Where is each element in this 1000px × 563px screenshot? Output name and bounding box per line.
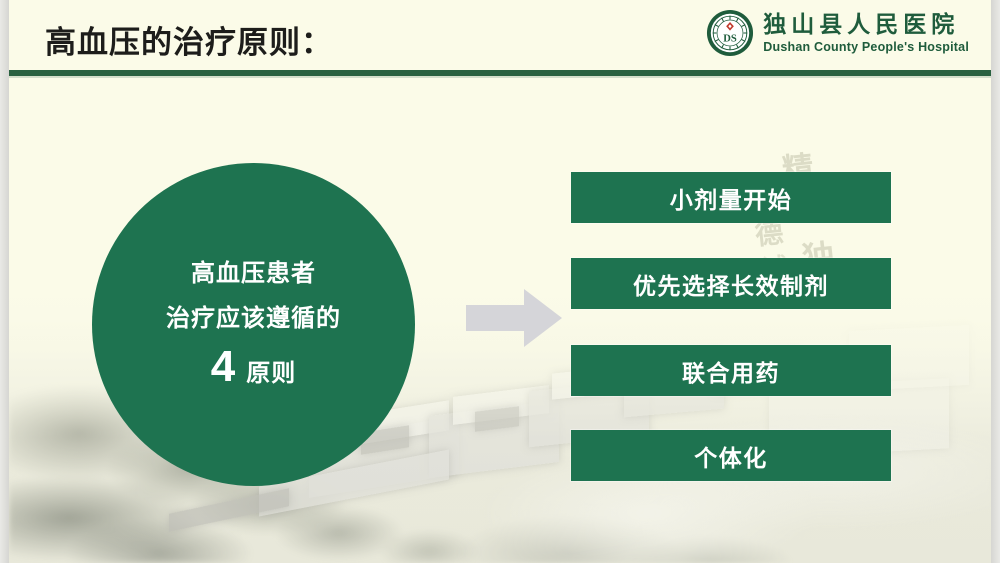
hospital-name-cn: 独山县人民医院 <box>763 13 959 36</box>
principle-bar-label: 联合用药 <box>682 354 780 388</box>
hospital-name-block: 独山县人民医院 Dushan County People's Hospital <box>763 13 969 54</box>
principle-bar-4[interactable]: 个体化 <box>571 430 891 481</box>
slide-header: 高血压的治疗原则： <box>9 0 991 72</box>
principle-count-unit: 原则 <box>246 358 296 390</box>
principle-bar-2[interactable]: 优先选择长效制剂 <box>571 258 891 309</box>
slide-canvas: 精 德 独 诚 高血压的治疗原则： <box>9 0 991 563</box>
slide-frame-right-edge <box>991 0 1000 563</box>
right-arrow-icon <box>466 287 564 349</box>
principle-count-number: 4 <box>211 345 235 389</box>
circle-line-2: 治疗应该遵循的 <box>166 303 341 335</box>
header-divider-rule-shadow <box>9 76 991 78</box>
hospital-emblem-icon: DS <box>706 9 754 57</box>
principle-bar-3[interactable]: 联合用药 <box>571 345 891 396</box>
hospital-logo: DS 独山县人民医院 Dushan County People's Hospit… <box>706 9 969 57</box>
hospital-name-en: Dushan County People's Hospital <box>763 41 969 54</box>
circle-line-3: 4 原则 <box>211 345 296 390</box>
page-title: 高血压的治疗原则： <box>45 17 333 62</box>
principle-bar-label: 个体化 <box>694 439 768 473</box>
principle-bar-label: 小剂量开始 <box>670 181 793 215</box>
principle-bar-1[interactable]: 小剂量开始 <box>571 172 891 223</box>
principle-bar-label: 优先选择长效制剂 <box>633 267 829 301</box>
slide-frame-left-edge <box>0 0 9 563</box>
emblem-initials: DS <box>724 34 738 45</box>
principles-summary-circle: 高血压患者 治疗应该遵循的 4 原则 <box>92 163 415 486</box>
circle-line-1: 高血压患者 <box>191 258 316 290</box>
presentation-slide: 精 德 独 诚 高血压的治疗原则： <box>0 0 1000 563</box>
